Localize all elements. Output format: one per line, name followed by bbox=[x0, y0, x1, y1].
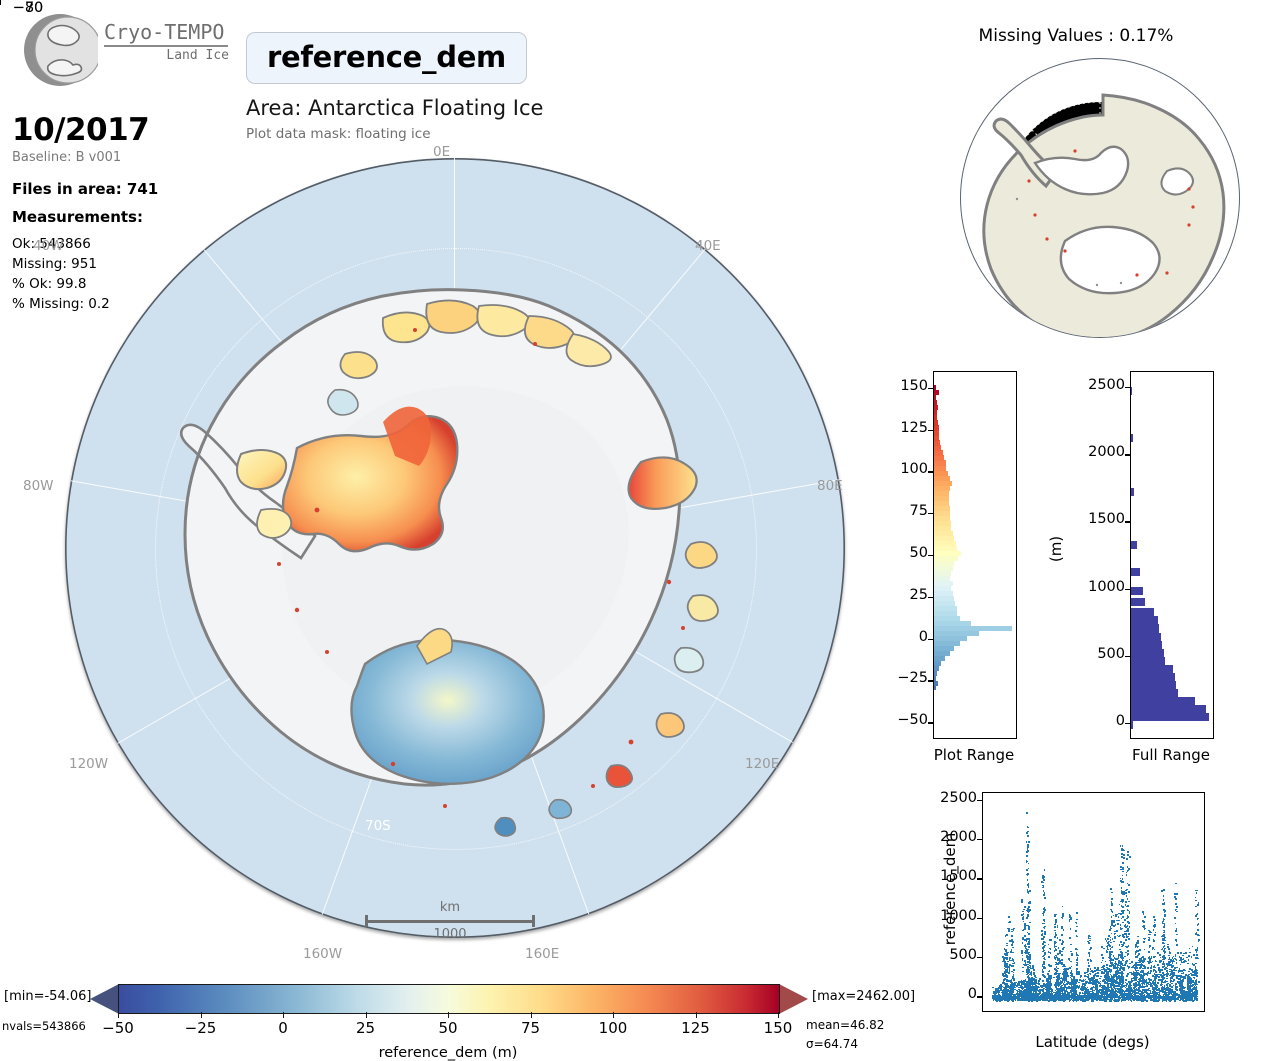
scatter-point bbox=[1185, 997, 1187, 999]
scatter-point bbox=[1039, 991, 1041, 993]
scatter-point bbox=[1115, 914, 1117, 916]
scatter-point bbox=[1011, 940, 1013, 942]
colorbar[interactable]: [min=-54.06] [max=2462.00] nvals=543866 … bbox=[0, 975, 920, 1060]
scatter-point bbox=[1010, 951, 1012, 953]
histogram-bar bbox=[934, 571, 951, 576]
scatter-point bbox=[1031, 971, 1033, 973]
colorbar-tick bbox=[696, 1012, 697, 1018]
histogram-bar bbox=[934, 440, 940, 445]
antarctica-map[interactable]: 70S km 1000 0E 40E 80E 120E 160E 160W 12… bbox=[55, 148, 855, 968]
scatter-point bbox=[1161, 997, 1163, 999]
scatter-point bbox=[1093, 996, 1095, 998]
scatter-point bbox=[1176, 975, 1178, 977]
scatter-point bbox=[1184, 1000, 1186, 1002]
scatter-point bbox=[1043, 967, 1045, 969]
scatter-point bbox=[1005, 954, 1007, 956]
scatter-point bbox=[1146, 985, 1148, 987]
colorbar-tick bbox=[118, 1012, 119, 1018]
scatter-point bbox=[993, 996, 995, 998]
scatter-point bbox=[1006, 945, 1008, 947]
histogram-bar bbox=[934, 531, 953, 536]
histogram-bar bbox=[1131, 657, 1165, 665]
histogram-bar bbox=[934, 661, 941, 666]
area-label: Area: Antarctica Floating Ice bbox=[246, 96, 543, 120]
full-range-caption: Full Range bbox=[1110, 746, 1232, 764]
axis-tick-label: 0 bbox=[888, 629, 932, 645]
scatter-point bbox=[1164, 977, 1166, 979]
scatter-point bbox=[1008, 928, 1010, 930]
scatter-point bbox=[1033, 974, 1035, 976]
scatter-point bbox=[1157, 952, 1159, 954]
scale-bar-unit: km bbox=[365, 900, 535, 915]
scatter-point bbox=[1117, 999, 1119, 1001]
scatter-point bbox=[1165, 993, 1167, 995]
scatter-point bbox=[1136, 979, 1138, 981]
scatter-point bbox=[1113, 941, 1115, 943]
scatter-point bbox=[1188, 974, 1190, 976]
scatter-point bbox=[1036, 1000, 1038, 1002]
scatter-point bbox=[1010, 994, 1012, 996]
scatter-point bbox=[1133, 994, 1135, 996]
scatter-point bbox=[1124, 996, 1126, 998]
scatter-point bbox=[1142, 996, 1144, 998]
scatter-point bbox=[1008, 916, 1010, 918]
scatter-point bbox=[1174, 1000, 1176, 1002]
scatter-point bbox=[1182, 955, 1184, 957]
scatter-point bbox=[1117, 967, 1119, 969]
scatter-point bbox=[1164, 957, 1166, 959]
scatter-point bbox=[1150, 962, 1152, 964]
scatter-point bbox=[1123, 980, 1125, 982]
scatter-point bbox=[1087, 987, 1089, 989]
scatter-point bbox=[1194, 977, 1196, 979]
histogram-bar bbox=[934, 415, 937, 420]
scatter-point bbox=[1117, 935, 1119, 937]
lon-label-0e: 0E bbox=[433, 144, 450, 160]
scatter-point bbox=[1042, 969, 1044, 971]
lon-label-120w: 120W bbox=[69, 756, 108, 772]
scatter-point bbox=[1177, 952, 1179, 954]
scatter-point bbox=[1066, 996, 1068, 998]
scatter-point bbox=[1154, 993, 1156, 995]
colorbar-mean-label: mean=46.82 bbox=[806, 1018, 884, 1032]
scatter-point bbox=[1067, 993, 1069, 995]
lon-label-80w: 80W bbox=[23, 478, 54, 494]
scatter-point bbox=[1187, 991, 1189, 993]
scatter-point bbox=[1177, 986, 1179, 988]
scatter-point bbox=[1027, 831, 1029, 833]
histogram-bar bbox=[934, 455, 944, 460]
scatter-point bbox=[1039, 978, 1041, 980]
scatter-point bbox=[1154, 922, 1156, 924]
scatter-point bbox=[1071, 971, 1073, 973]
plot-mask-label: Plot data mask: floating ice bbox=[246, 126, 431, 142]
colorbar-tick-label: 25 bbox=[356, 1019, 375, 1037]
scatter-point bbox=[1150, 932, 1152, 934]
scatter-point bbox=[1115, 982, 1117, 984]
scatter-point bbox=[1188, 959, 1190, 961]
full-range-ylabel: (m) bbox=[1047, 536, 1065, 562]
scatter-point bbox=[1096, 983, 1098, 985]
scatter-point bbox=[1083, 995, 1085, 997]
scatter-point bbox=[1142, 978, 1144, 980]
scatter-point bbox=[1040, 986, 1042, 988]
histogram-bar bbox=[934, 445, 941, 450]
axis-tick-label: 50 bbox=[888, 545, 932, 561]
scatter-point bbox=[1040, 997, 1042, 999]
scatter-point bbox=[1026, 974, 1028, 976]
histogram-bar bbox=[934, 460, 946, 465]
scatter-point bbox=[1134, 975, 1136, 977]
scatter-point bbox=[1109, 951, 1111, 953]
scatter-point bbox=[1102, 960, 1104, 962]
scatter-point bbox=[1012, 999, 1014, 1001]
scatter-point bbox=[1197, 904, 1199, 906]
scatter-point bbox=[1198, 981, 1200, 983]
scatter-point bbox=[1116, 994, 1118, 996]
scatter-point bbox=[1149, 980, 1151, 982]
scatter-point bbox=[1158, 976, 1160, 978]
scatter-point bbox=[1154, 949, 1156, 951]
scatter-point bbox=[1025, 994, 1027, 996]
scatter-point bbox=[1035, 984, 1037, 986]
scatter-point bbox=[1191, 969, 1193, 971]
scatter-point bbox=[1133, 971, 1135, 973]
scatter-point bbox=[1153, 970, 1155, 972]
scatter-point bbox=[1069, 1000, 1071, 1002]
scatter-point bbox=[1118, 997, 1120, 999]
scatter-point bbox=[1004, 997, 1006, 999]
scatter-point bbox=[996, 1000, 998, 1002]
scatter-point bbox=[1117, 923, 1119, 925]
scatter-point bbox=[1076, 986, 1078, 988]
scatter-point bbox=[1099, 999, 1101, 1001]
scatter-point bbox=[1010, 991, 1012, 993]
scatter-point bbox=[1149, 946, 1151, 948]
scatter-point bbox=[1049, 982, 1051, 984]
scatter-point bbox=[1087, 970, 1089, 972]
scatter-point bbox=[1112, 993, 1114, 995]
scatter-point bbox=[1139, 949, 1141, 951]
scatter-point bbox=[1175, 975, 1177, 977]
scatter-point bbox=[1128, 998, 1130, 1000]
axis-tick-label: 2000 bbox=[1077, 444, 1129, 460]
scatter-point bbox=[1064, 986, 1066, 988]
scatter-point bbox=[1108, 989, 1110, 991]
scatter-point bbox=[1138, 953, 1140, 955]
scatter-point bbox=[1185, 952, 1187, 954]
scatter-point bbox=[1094, 983, 1096, 985]
scatter-point bbox=[1194, 988, 1196, 990]
scatter-point bbox=[1146, 981, 1148, 983]
scatter-point bbox=[1088, 996, 1090, 998]
scatter-point bbox=[1146, 992, 1148, 994]
scatter-point bbox=[1197, 929, 1199, 931]
scatter-point bbox=[1115, 916, 1117, 918]
colorbar-tick-label: 0 bbox=[278, 1019, 288, 1037]
colorbar-tick bbox=[448, 1012, 449, 1018]
scatter-point bbox=[1169, 1000, 1171, 1002]
scatter-point bbox=[1043, 923, 1045, 925]
scatter-point bbox=[1119, 968, 1121, 970]
scatter-point bbox=[1154, 919, 1156, 921]
scatter-point bbox=[1106, 990, 1108, 992]
scatter-point bbox=[1008, 922, 1010, 924]
histogram-bar bbox=[934, 430, 939, 435]
scatter-point bbox=[1078, 988, 1080, 990]
scatter-point bbox=[1155, 971, 1157, 973]
scatter-point bbox=[1183, 972, 1185, 974]
missing-values-panel: Missing Values : 0.17% bbox=[880, 14, 1272, 354]
scatter-point bbox=[1008, 967, 1010, 969]
scatter-point bbox=[1071, 953, 1073, 955]
histogram-bar bbox=[934, 546, 957, 551]
scatter-point bbox=[1047, 973, 1049, 975]
scatter-point bbox=[1134, 984, 1136, 986]
colorbar-tick-label: 125 bbox=[681, 1019, 710, 1037]
histogram-bar bbox=[934, 496, 949, 501]
scatter-point bbox=[1029, 902, 1031, 904]
scatter-point bbox=[1025, 985, 1027, 987]
scatter-point bbox=[1089, 954, 1091, 956]
scatter-point bbox=[1009, 964, 1011, 966]
scatter-point bbox=[1012, 976, 1014, 978]
scatter-point bbox=[1029, 980, 1031, 982]
scatter-point bbox=[1148, 962, 1150, 964]
scatter-point bbox=[1048, 971, 1050, 973]
scatter-point bbox=[1047, 983, 1049, 985]
scatter-point bbox=[1161, 980, 1163, 982]
scatter-point bbox=[1029, 922, 1031, 924]
scatter-point bbox=[1118, 975, 1120, 977]
scatter-point bbox=[1126, 985, 1128, 987]
scatter-point bbox=[1048, 996, 1050, 998]
scatter-point bbox=[1189, 952, 1191, 954]
histogram-bar bbox=[1131, 541, 1137, 549]
scatter-point bbox=[1161, 988, 1163, 990]
scatter-point bbox=[1142, 926, 1144, 928]
scatter-point bbox=[1110, 981, 1112, 983]
scatter-point bbox=[1085, 979, 1087, 981]
scatter-point bbox=[1089, 940, 1091, 942]
scatter-point bbox=[1154, 956, 1156, 958]
scatter-point bbox=[1195, 906, 1197, 908]
histogram-bar bbox=[934, 511, 950, 516]
scatter-point bbox=[1106, 996, 1108, 998]
scatter-point bbox=[1131, 1000, 1133, 1002]
scatter-point bbox=[1137, 940, 1139, 942]
scatter-point bbox=[1195, 897, 1197, 899]
scatter-point bbox=[1066, 980, 1068, 982]
scatter-point bbox=[1097, 999, 1099, 1001]
scatter-point bbox=[1120, 989, 1122, 991]
scatter-point bbox=[995, 990, 997, 992]
scatter-point bbox=[1163, 889, 1165, 891]
scatter-point bbox=[1029, 982, 1031, 984]
scatter-point bbox=[1042, 971, 1044, 973]
scatter-point bbox=[1120, 994, 1122, 996]
scatter-point bbox=[995, 998, 997, 1000]
scatter-point bbox=[1192, 946, 1194, 948]
scatter-point bbox=[1008, 930, 1010, 932]
scatter-point bbox=[1103, 993, 1105, 995]
histogram-bar bbox=[934, 586, 951, 591]
scatter-point bbox=[1142, 968, 1144, 970]
histogram-bar bbox=[934, 471, 948, 476]
scatter-point bbox=[1056, 979, 1058, 981]
scatter-point bbox=[1096, 993, 1098, 995]
scatter-point bbox=[1113, 921, 1115, 923]
scatter-point bbox=[1164, 937, 1166, 939]
scatter-point bbox=[1025, 989, 1027, 991]
scatter-point bbox=[1091, 983, 1093, 985]
scatter-point bbox=[1059, 988, 1061, 990]
scatter-point bbox=[1190, 979, 1192, 981]
scatter-point bbox=[1168, 1000, 1170, 1002]
scatter-point bbox=[1099, 978, 1101, 980]
scatter-point bbox=[1100, 976, 1102, 978]
scatter-point bbox=[1064, 979, 1066, 981]
histogram-bar bbox=[1131, 697, 1195, 705]
colorbar-gradient bbox=[118, 984, 780, 1014]
scatter-point bbox=[1067, 975, 1069, 977]
scatter-point bbox=[1183, 969, 1185, 971]
scatter-point bbox=[1063, 1000, 1065, 1002]
scatter-point bbox=[1021, 986, 1023, 988]
scatter-point bbox=[1092, 971, 1094, 973]
scatter-point bbox=[1189, 982, 1191, 984]
scatter-point bbox=[1057, 957, 1059, 959]
histogram-bar bbox=[934, 671, 937, 676]
scatter-point bbox=[1089, 949, 1091, 951]
scatter-point bbox=[1141, 1000, 1143, 1002]
scatter-point bbox=[1187, 995, 1189, 997]
lon-label-40w: 40W bbox=[33, 238, 64, 254]
scatter-point bbox=[993, 991, 995, 993]
scatter-point bbox=[1148, 952, 1150, 954]
scatter-point bbox=[1074, 981, 1076, 983]
scatter-point bbox=[1107, 986, 1109, 988]
histogram-bar bbox=[1131, 608, 1154, 616]
scatter-point bbox=[1189, 948, 1191, 950]
scatter-point bbox=[1045, 999, 1047, 1001]
scatter-point bbox=[1006, 934, 1008, 936]
scatter-point bbox=[1115, 958, 1117, 960]
scatter-point bbox=[1072, 1000, 1074, 1002]
histogram-bar bbox=[1131, 587, 1143, 595]
scatter-point bbox=[1163, 995, 1165, 997]
scatter-point bbox=[1125, 990, 1127, 992]
scatter-point bbox=[1115, 1000, 1117, 1002]
scatter-point bbox=[1111, 997, 1113, 999]
lon-label-120e: 120E bbox=[745, 756, 779, 772]
scatter-point bbox=[1163, 999, 1165, 1001]
scatter-point bbox=[1195, 999, 1197, 1001]
histogram-bar bbox=[934, 676, 936, 681]
scatter-point bbox=[1086, 998, 1088, 1000]
scatter-point bbox=[1069, 937, 1071, 939]
scatter-point bbox=[1150, 990, 1152, 992]
scatter-point bbox=[1149, 956, 1151, 958]
scatter-point bbox=[1103, 965, 1105, 967]
histogram-bar bbox=[934, 551, 961, 556]
scatter-point bbox=[1008, 972, 1010, 974]
scatter-point bbox=[1159, 996, 1161, 998]
scatter-point bbox=[1027, 884, 1029, 886]
histogram-bar bbox=[934, 631, 979, 636]
histogram-bar bbox=[934, 521, 951, 526]
scatter-point bbox=[1195, 900, 1197, 902]
scatter-point bbox=[1001, 987, 1003, 989]
scatter-point bbox=[1143, 941, 1145, 943]
scatter-point bbox=[1144, 949, 1146, 951]
scatter-point bbox=[1027, 826, 1029, 828]
scatter-point bbox=[1090, 989, 1092, 991]
scatter-point bbox=[1153, 925, 1155, 927]
histogram-bar bbox=[934, 581, 953, 586]
continent-artwork bbox=[65, 158, 845, 938]
scatter-point bbox=[1167, 946, 1169, 948]
scatter-point bbox=[1196, 951, 1198, 953]
histogram-bar bbox=[934, 576, 950, 581]
axis-tick-label: 150 bbox=[888, 378, 932, 394]
scatter-point bbox=[1181, 982, 1183, 984]
scatter-point bbox=[1187, 978, 1189, 980]
scatter-point bbox=[1192, 1000, 1194, 1002]
scatter-point bbox=[1149, 982, 1151, 984]
scatter-point bbox=[1135, 953, 1137, 955]
histogram-bar bbox=[1131, 434, 1133, 442]
scatter-point bbox=[1107, 942, 1109, 944]
scatter-point bbox=[1087, 976, 1089, 978]
scatter-point bbox=[1121, 999, 1123, 1001]
scatter-point bbox=[1088, 982, 1090, 984]
histogram-bar bbox=[934, 626, 1012, 631]
scatter-point bbox=[1028, 868, 1030, 870]
histogram-bar bbox=[934, 506, 950, 511]
scatter-point bbox=[1148, 989, 1150, 991]
scatter-point bbox=[1090, 973, 1092, 975]
histogram-bar bbox=[934, 526, 951, 531]
scatter-point bbox=[1088, 962, 1090, 964]
scatter-point bbox=[1144, 973, 1146, 975]
scatter-point bbox=[1006, 975, 1008, 977]
scatter-point bbox=[1164, 974, 1166, 976]
axis-tick-label: 75 bbox=[888, 503, 932, 519]
scatter-point bbox=[1181, 973, 1183, 975]
scatter-point bbox=[1173, 972, 1175, 974]
scatter-point bbox=[1161, 890, 1163, 892]
scatter-point bbox=[1195, 933, 1197, 935]
scatter-point bbox=[1113, 915, 1115, 917]
scatter-point bbox=[1191, 974, 1193, 976]
scatter-point bbox=[1075, 999, 1077, 1001]
map-disc: 70S km 1000 bbox=[65, 158, 845, 938]
scatter-point bbox=[1144, 960, 1146, 962]
axis-tick-label: 25 bbox=[888, 587, 932, 603]
colorbar-min-label: [min=-54.06] bbox=[4, 989, 91, 1004]
scatter-point bbox=[1135, 984, 1137, 986]
scatter-point bbox=[1098, 997, 1100, 999]
scatter-point bbox=[1109, 979, 1111, 981]
scatter-point bbox=[1161, 969, 1163, 971]
scatter-point bbox=[1154, 996, 1156, 998]
scatter-point bbox=[1170, 959, 1172, 961]
histogram-bar bbox=[1131, 705, 1206, 713]
scatter-point bbox=[1108, 991, 1110, 993]
scatter-point bbox=[1107, 947, 1109, 949]
scatter-point bbox=[1137, 993, 1139, 995]
